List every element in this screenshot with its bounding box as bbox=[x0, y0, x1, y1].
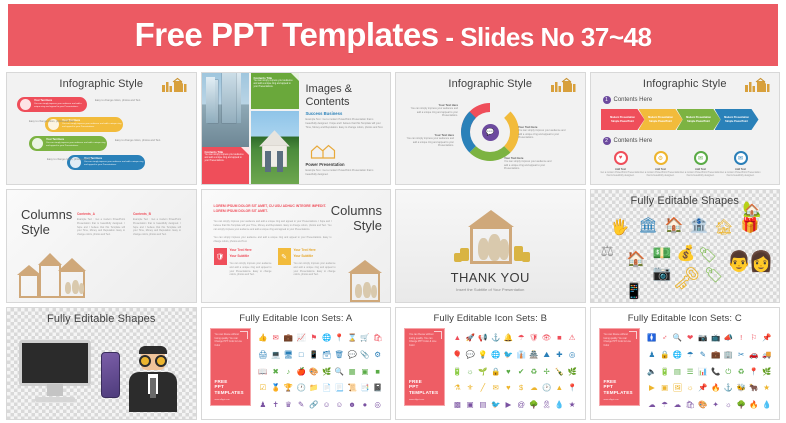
eco-house-icon[interactable]: 🏡 bbox=[743, 202, 762, 217]
palette-icon[interactable]: 🎨 bbox=[309, 368, 318, 376]
exclamation-icon[interactable]: ! bbox=[740, 334, 742, 342]
bullhorn-icon[interactable]: 📢 bbox=[478, 334, 487, 342]
slide-thumbnail-1[interactable]: Infographic Style Your Text Here You can… bbox=[6, 72, 197, 185]
wooden-house-models-photo bbox=[17, 252, 89, 300]
eye-icon[interactable]: 👁 bbox=[542, 334, 552, 342]
cycle-caption-1: Your Text Here You can simply impress yo… bbox=[410, 103, 458, 118]
wand-icon[interactable]: ╱ bbox=[481, 384, 486, 392]
puzzle-icon[interactable]: ✖ bbox=[272, 368, 278, 376]
trophy-icon[interactable]: 🏆 bbox=[284, 384, 293, 392]
person-icon[interactable]: ♟ bbox=[649, 351, 656, 359]
family-house-icon[interactable]: 🏠 bbox=[665, 218, 684, 233]
star-icon[interactable]: ★ bbox=[763, 384, 770, 392]
slide-12-title: Fully Editable Icon Sets: C bbox=[591, 313, 780, 324]
green-content-tag[interactable]: Contents Title You can simply impress yo… bbox=[251, 73, 299, 109]
icon-column-1-body: You can simply impress your audience and… bbox=[230, 262, 272, 277]
pin-icon[interactable]: 📍 bbox=[749, 368, 758, 376]
facebook-icon[interactable]: ▤ bbox=[479, 401, 486, 409]
bottle-icon[interactable]: 🍾 bbox=[555, 368, 564, 376]
chevron-4[interactable]: Modern Presentation Simple PowerPoint bbox=[715, 109, 759, 130]
wifi-icon[interactable]: ☰ bbox=[687, 368, 694, 376]
number-badge-icon: 2 bbox=[603, 137, 611, 145]
cloud-icon[interactable]: ☁ bbox=[530, 384, 538, 392]
star-icon[interactable]: ★ bbox=[569, 401, 576, 409]
corner-fold-icon bbox=[629, 331, 637, 339]
header-banner: Free PPT Templates - Slides No 37~48 bbox=[8, 4, 778, 66]
clock-icon[interactable]: 🕐 bbox=[296, 384, 305, 392]
slide-thumbnail-7[interactable]: THANK YOU Insert the Subtitle of Your Pr… bbox=[395, 189, 586, 302]
slide-6-title: Columns Style bbox=[331, 204, 382, 234]
ring-icon[interactable]: ◎ bbox=[374, 401, 381, 409]
male-icon[interactable]: ♂ bbox=[662, 334, 668, 342]
chat-icon[interactable]: 💬 bbox=[347, 351, 356, 359]
flask-icon[interactable]: ⚗ bbox=[454, 384, 461, 392]
mountain-icon[interactable]: ⛰ bbox=[543, 351, 549, 359]
tree-icon[interactable]: 🌳 bbox=[529, 401, 538, 409]
success-business-heading: Success Business bbox=[306, 111, 343, 116]
slide-5-title: Columns Style bbox=[21, 208, 72, 238]
emoji-icon[interactable]: ☺ bbox=[336, 401, 344, 409]
tree-icon[interactable]: 🌳 bbox=[736, 401, 745, 409]
page-icon[interactable]: 📜 bbox=[347, 384, 356, 392]
chevron-3[interactable]: Modern Presentation Simple PowerPoint bbox=[677, 109, 721, 130]
round-item-3-body: Get a modern PowerPoint Presentation tha… bbox=[681, 172, 721, 177]
stand-icon[interactable]: ✝ bbox=[272, 401, 278, 409]
bell-icon[interactable]: 🔔 bbox=[504, 334, 513, 342]
chart-icon bbox=[32, 138, 43, 149]
plus-icon[interactable]: ✚ bbox=[556, 351, 562, 359]
recycle-icon[interactable]: ♻ bbox=[531, 368, 538, 376]
magnifier-icon[interactable]: 🔍 bbox=[673, 334, 682, 342]
star-icon[interactable]: ✦ bbox=[712, 401, 718, 409]
clip-icon[interactable]: 📎 bbox=[360, 351, 369, 359]
card-url: www.allppt.com bbox=[409, 399, 424, 401]
tablet-icon[interactable]: □ bbox=[299, 351, 304, 359]
flame-icon[interactable]: 🔥 bbox=[749, 401, 758, 409]
camera-icon[interactable]: 📷 bbox=[653, 266, 672, 281]
round-item-4-caption: Add Text Get a modern PowerPoint Present… bbox=[720, 168, 762, 178]
card-brand-line3: TEMPLATES bbox=[604, 390, 633, 396]
card-brand: FREE PPT TEMPLATES bbox=[215, 379, 244, 396]
bag-icon[interactable]: 🛍 bbox=[685, 401, 695, 409]
restroom-icon[interactable]: 🚺 bbox=[647, 334, 656, 342]
globe-icon[interactable]: 🌐 bbox=[322, 334, 331, 342]
chevron-1[interactable]: Modern Presentation Simple PowerPoint bbox=[601, 109, 645, 130]
icon-column-2-body: You can simply impress your audience and… bbox=[294, 262, 336, 277]
bull-icon[interactable]: 🐂 bbox=[749, 384, 758, 392]
contents-here-row-2: 2 Contents Here bbox=[603, 137, 653, 145]
icon-grid: 👍 ✉ 💼 📈 ⚑ 🌐 📍 ⌛ 🛒 🛍 🖨 💻 🖥 □ 📱 🗃 bbox=[257, 330, 385, 413]
globe-icon[interactable]: 🌐 bbox=[673, 351, 682, 359]
cycle-caption-3-body: You can simply impress your audience and… bbox=[504, 160, 551, 170]
bulb-icon[interactable]: 💡 bbox=[478, 351, 487, 359]
contents-here-label-2: Contents Here bbox=[614, 138, 653, 144]
contents-here-label-1: Contents Here bbox=[614, 97, 653, 103]
card-brand: FREE PPT TEMPLATES bbox=[409, 379, 438, 396]
scissors-icon[interactable]: ✂ bbox=[738, 351, 744, 359]
plant-icon[interactable]: 🌱 bbox=[478, 368, 487, 376]
trash-icon[interactable]: 🗑 bbox=[335, 351, 345, 359]
at-icon[interactable]: @ bbox=[517, 401, 525, 409]
book-icon[interactable]: 📓 bbox=[373, 384, 382, 392]
slide-thumbnail-10[interactable]: Fully Editable Icon Sets: A You can Reus… bbox=[201, 307, 392, 420]
flag-icon[interactable]: ⚑ bbox=[311, 334, 318, 342]
laptop-icon[interactable]: 💻 bbox=[271, 351, 280, 359]
slide-2-title-text: Images & Contents bbox=[306, 83, 352, 108]
pin-icon[interactable]: 📌 bbox=[762, 334, 771, 342]
corner-fold-icon bbox=[240, 331, 248, 339]
free-ppt-templates-card[interactable]: You can Reuse without losing quality. Yo… bbox=[404, 328, 445, 406]
circle-icon[interactable]: ● bbox=[363, 401, 368, 409]
smartphone-icon[interactable] bbox=[101, 352, 120, 398]
target-icon[interactable]: ◎ bbox=[569, 351, 576, 359]
number-badge-icon: 1 bbox=[603, 96, 611, 104]
slide-thumbnail-8[interactable]: Fully Editable Shapes 🖐 🏛 🏠 🏦 🏚 🎁 🏡 ⚖ 🏠 … bbox=[590, 189, 781, 302]
gear-icon[interactable]: ⚙ bbox=[374, 351, 381, 359]
slide-6-title-line2: Style bbox=[331, 219, 382, 234]
slide-catalog-page: Free PPT Templates - Slides No 37~48 Inf… bbox=[0, 0, 786, 423]
truck-icon[interactable]: 🚚 bbox=[762, 351, 771, 359]
column-1-body: Example Text : Get a modern PowerPoint P… bbox=[77, 218, 125, 237]
corner-fold-icon bbox=[241, 147, 249, 155]
lock-icon[interactable]: 🔒 bbox=[660, 351, 669, 359]
anchor-icon[interactable]: ⚓ bbox=[724, 384, 733, 392]
slide-11-title: Fully Editable Icon Sets: B bbox=[396, 313, 585, 324]
slide-thumbnail-6[interactable]: LOREM IPSUM DOLOR SIT AMET, CU USU ADHUC… bbox=[201, 189, 392, 302]
book-icon[interactable]: 📖 bbox=[258, 368, 267, 376]
gear-icon[interactable]: ⚙ bbox=[654, 151, 668, 165]
leaf-icon[interactable]: 🌿 bbox=[322, 368, 331, 376]
tower-icon[interactable]: 🏯 bbox=[529, 351, 538, 359]
pin-icon[interactable]: 📍 bbox=[567, 384, 576, 392]
round-item-2-body: Get a modern PowerPoint Presentation tha… bbox=[641, 172, 681, 177]
grid-icon[interactable]: ▦ bbox=[349, 368, 356, 376]
bar-2-body: You can simply impress your audience and… bbox=[62, 123, 123, 128]
drop-icon[interactable]: 💧 bbox=[555, 401, 564, 409]
drop-icon[interactable]: 💧 bbox=[762, 401, 771, 409]
rocket-icon[interactable]: 🚀 bbox=[465, 334, 474, 342]
contents-here-row-1: 1 Contents Here bbox=[603, 96, 653, 104]
note-icon[interactable]: 📑 bbox=[360, 384, 369, 392]
city-skyline-photo bbox=[202, 73, 249, 147]
file-icon[interactable]: 📄 bbox=[322, 384, 331, 392]
phone-icon[interactable]: 📱 bbox=[309, 351, 318, 359]
infographic-bar-1[interactable]: Your Text Here You can simply impress yo… bbox=[17, 97, 87, 112]
cycle-caption-4: Your Text Here You can simply impress yo… bbox=[406, 133, 454, 148]
fire-icon[interactable]: 🔥 bbox=[711, 384, 720, 392]
stethoscope-icon[interactable]: ⚜ bbox=[467, 384, 474, 392]
pencil-icon[interactable]: ✎ bbox=[278, 248, 291, 265]
slide-10-title: Fully Editable Icon Sets: A bbox=[202, 313, 391, 324]
medal-icon[interactable]: 🏅 bbox=[271, 384, 280, 392]
bee-icon[interactable]: 🐝 bbox=[736, 384, 745, 392]
hand-holding-icon[interactable]: 🖐 bbox=[611, 220, 630, 235]
house-skyline-icon bbox=[743, 77, 771, 93]
man-with-binoculars-icon[interactable] bbox=[125, 348, 181, 414]
imac-monitor-icon[interactable] bbox=[19, 340, 91, 402]
video-icon[interactable]: ▣ bbox=[661, 384, 668, 392]
icon-column-2-subheading: Your Subtitle bbox=[294, 254, 314, 258]
sun-icon[interactable]: ☼ bbox=[725, 401, 732, 409]
shield-icon[interactable]: 🛡 bbox=[529, 334, 539, 342]
card-brand-line3: TEMPLATES bbox=[409, 390, 438, 396]
round-item-1-body: Get a modern PowerPoint Presentation tha… bbox=[601, 172, 641, 177]
cloud-icon[interactable]: ☁ bbox=[674, 401, 682, 409]
image-icon[interactable]: 🖼 bbox=[673, 384, 683, 392]
person-icon[interactable]: ♟ bbox=[260, 401, 267, 409]
key-icon[interactable]: 🗝 bbox=[673, 268, 701, 290]
paint-icon[interactable]: 🎨 bbox=[698, 401, 707, 409]
slide-thumbnail-12[interactable]: Fully Editable Icon Sets: C You can Reus… bbox=[590, 307, 781, 420]
power-icon[interactable]: ⏻ bbox=[725, 368, 731, 376]
slide-5-title-line1: Columns bbox=[21, 208, 72, 223]
column-2-body: Example Text : Get a modern PowerPoint P… bbox=[133, 218, 181, 237]
clock-icon[interactable]: 🕑 bbox=[542, 384, 551, 392]
corner-fold-icon bbox=[291, 73, 299, 81]
globe-icon[interactable]: 🌐 bbox=[491, 351, 500, 359]
server-icon[interactable]: 🗃 bbox=[322, 351, 332, 359]
success-business-body: Example Text : Get a modern PowerPoint P… bbox=[306, 118, 384, 129]
window-icon[interactable]: ▣ bbox=[361, 368, 368, 376]
video-icon[interactable]: ▶ bbox=[505, 401, 511, 409]
instagram-icon[interactable]: ▣ bbox=[467, 401, 474, 409]
cloud-icon[interactable]: ☁ bbox=[648, 401, 656, 409]
money-bags-in-wooden-house-photo bbox=[448, 204, 532, 266]
slide-thumbnail-grid: Infographic Style Your Text Here You can… bbox=[6, 72, 780, 420]
slide-thumbnail-4[interactable]: Infographic Style 1 Contents Here Modern… bbox=[590, 72, 781, 185]
search-icon[interactable]: 🔍 bbox=[335, 368, 344, 376]
infographic-bar-3[interactable]: Your Text Here You can simply impress yo… bbox=[29, 136, 107, 151]
icon-grid: 🚺 ♂ 🔍 ❤ 📷 📺 📣 ! ⚐ 📌 ♟ 🔒 🌐 ☂ ✎ 💼 bbox=[646, 330, 774, 413]
round-item-3-caption: Add Text Get a modern PowerPoint Present… bbox=[680, 168, 722, 178]
heart-icon[interactable]: ♥ bbox=[506, 384, 510, 392]
bag-icon[interactable]: 💼 bbox=[711, 351, 720, 359]
chat-icon[interactable]: ✉ bbox=[734, 151, 748, 165]
round-item-1-caption: Add Text Get a modern PowerPoint Present… bbox=[600, 168, 642, 178]
megaphone-icon[interactable]: 📣 bbox=[724, 334, 733, 342]
pin-icon[interactable]: 📍 bbox=[335, 334, 344, 342]
printer-icon[interactable]: 🖨 bbox=[258, 351, 268, 359]
phone-handshake-icon[interactable]: 📱 bbox=[625, 284, 644, 299]
tie-icon[interactable]: 👔 bbox=[516, 351, 525, 359]
thank-you-subtitle: Insert the Subtitle of Your Presentation bbox=[396, 287, 585, 292]
free-ppt-templates-card[interactable]: You can Reuse without losing quality. Yo… bbox=[210, 328, 251, 406]
power-presentation-body: Example Text : Get a modern PowerPoint P… bbox=[306, 169, 384, 177]
cycle-caption-2: Your Text Here You can simply impress yo… bbox=[518, 125, 566, 140]
speech-icon[interactable]: 💬 bbox=[465, 351, 474, 359]
pen-icon[interactable]: ✎ bbox=[298, 401, 304, 409]
folder-icon[interactable]: 📁 bbox=[309, 384, 318, 392]
flag-icon[interactable]: ⚐ bbox=[751, 334, 758, 342]
play-icon[interactable]: ▶ bbox=[649, 384, 655, 392]
round-item-2-caption: Add Text Get a modern PowerPoint Present… bbox=[640, 168, 682, 178]
link-icon[interactable]: 🔗 bbox=[309, 401, 318, 409]
bar-1-body: You can simply impress your audience and… bbox=[34, 103, 87, 108]
target-icon bbox=[20, 99, 31, 110]
camera-icon[interactable]: 📷 bbox=[698, 334, 707, 342]
document-icon[interactable]: 📃 bbox=[335, 384, 344, 392]
slide-1-caption-1: Easy to change colors, photos and Text. bbox=[95, 99, 141, 103]
gift-house-icon[interactable]: 🎁 bbox=[741, 218, 760, 233]
thumbs-up-icon[interactable]: 👍 bbox=[258, 334, 267, 342]
square-icon[interactable]: ■ bbox=[375, 368, 380, 376]
slide-1-caption-3: Easy to change colors, photos and Text. bbox=[115, 139, 161, 143]
chevron-2[interactable]: Modern Presentation Simple PowerPoint bbox=[639, 109, 683, 130]
bag-icon[interactable]: 🛍 bbox=[373, 334, 383, 342]
banner-sub-text: - Slides No 37~48 bbox=[439, 22, 652, 52]
sun-icon[interactable]: ☼ bbox=[687, 384, 694, 392]
slide-1-caption-4: Easy to change colors, photos and Text. bbox=[47, 158, 93, 162]
free-ppt-templates-card[interactable]: You can Reuse without losing quality. Yo… bbox=[599, 328, 640, 406]
slide-2-title: Images & Contents bbox=[306, 83, 391, 108]
slide-1-caption-2: Easy to change colors, photos and Text. bbox=[29, 120, 75, 124]
signal-icon[interactable]: ▤ bbox=[674, 368, 681, 376]
intro-paragraph-1: You can simply impress your audience and… bbox=[214, 220, 332, 231]
bar-3-body: You can simply impress your audience and… bbox=[46, 142, 107, 147]
envelope-icon[interactable]: ✉ bbox=[492, 384, 498, 392]
card-brand-line3: TEMPLATES bbox=[215, 390, 244, 396]
house-outline-icon[interactable]: 🏚 bbox=[715, 220, 734, 235]
heart-icon[interactable]: ♥ bbox=[506, 368, 510, 376]
slide-thumbnail-2[interactable]: Contents Title You can simply impress yo… bbox=[201, 72, 392, 185]
money-house-icon[interactable]: 🏦 bbox=[690, 218, 709, 233]
wooden-house-models-photo bbox=[340, 260, 388, 302]
price-tag-icon[interactable]: 🏷 bbox=[705, 268, 724, 283]
card-url: www.allppt.com bbox=[215, 399, 230, 401]
shield-icon[interactable]: 🛡 bbox=[214, 248, 227, 265]
money-bag-icon[interactable]: 💰 bbox=[677, 246, 696, 261]
bird-icon[interactable]: 🐦 bbox=[504, 351, 513, 359]
icon-column-1-subheading: Your Subtitle bbox=[230, 254, 250, 258]
mail-icon[interactable]: ✉ bbox=[694, 151, 708, 165]
chevron-3-line2: Simple PowerPoint bbox=[687, 120, 710, 124]
recycle-icon[interactable]: ♻ bbox=[738, 368, 745, 376]
banner-main-text: Free PPT Templates bbox=[135, 16, 439, 53]
compass-icon[interactable]: ▲ bbox=[454, 334, 461, 342]
heart-icon[interactable]: ❤ bbox=[687, 334, 693, 342]
cloud-rain-icon[interactable]: ☂ bbox=[661, 401, 668, 409]
briefcase-icon[interactable]: 💼 bbox=[284, 334, 293, 342]
linkedin-icon[interactable]: ▩ bbox=[454, 401, 461, 409]
house-skyline-icon bbox=[160, 77, 188, 93]
heart-icon[interactable]: ♥ bbox=[614, 151, 628, 165]
checkbox-icon[interactable]: ☑ bbox=[260, 384, 267, 392]
sun-icon[interactable]: ☼ bbox=[467, 368, 474, 376]
slide-thumbnail-11[interactable]: Fully Editable Icon Sets: B You can Reus… bbox=[395, 307, 586, 420]
twitter-icon[interactable]: 🐦 bbox=[491, 401, 500, 409]
card-brand: FREE PPT TEMPLATES bbox=[604, 379, 633, 396]
slide-thumbnail-3[interactable]: Infographic Style 💬 Your Text Here You c… bbox=[395, 72, 586, 185]
cone-icon[interactable]: ▲ bbox=[556, 384, 563, 392]
call-icon[interactable]: 📞 bbox=[711, 368, 720, 376]
umbrella-icon[interactable]: ☂ bbox=[518, 334, 525, 342]
column-2-heading: Contents_B bbox=[133, 212, 151, 216]
businesswoman-icon[interactable]: 👩 bbox=[749, 252, 774, 272]
house-outline-icon bbox=[310, 143, 336, 159]
slide-9-title: Fully Editable Shapes bbox=[7, 313, 196, 325]
intro-paragraph-2: You can simply impress your audience and… bbox=[214, 236, 332, 243]
card-url: www.allppt.com bbox=[604, 399, 619, 401]
chevron-1-line2: Simple PowerPoint bbox=[611, 120, 634, 124]
house-skyline-icon bbox=[549, 77, 577, 93]
chevron-2-line2: Simple PowerPoint bbox=[649, 120, 672, 124]
cycle-caption-2-body: You can simply impress your audience and… bbox=[518, 129, 565, 139]
music-icon[interactable]: ♪ bbox=[287, 368, 291, 376]
hourglass-icon[interactable]: ⌛ bbox=[347, 334, 356, 342]
icon-column-2-heading: Your Text Here bbox=[294, 248, 316, 252]
house-keyring-icon[interactable]: 🏷 bbox=[699, 248, 718, 263]
building-icon[interactable]: 🏢 bbox=[724, 351, 733, 359]
balance-scale-icon[interactable]: ⚖ bbox=[601, 244, 614, 259]
thank-you-title: THANK YOU bbox=[396, 270, 585, 285]
bar-chart-icon[interactable]: 📈 bbox=[296, 334, 305, 342]
mail-icon[interactable]: ✉ bbox=[272, 334, 278, 342]
red-content-tag[interactable]: Contents Title You can simply impress yo… bbox=[202, 147, 249, 185]
chart-icon[interactable]: 📊 bbox=[698, 368, 707, 376]
monitor-icon[interactable]: 🖥 bbox=[284, 351, 294, 359]
pen-icon[interactable]: ✎ bbox=[700, 351, 706, 359]
slide-thumbnail-9[interactable]: Fully Editable Shapes bbox=[6, 307, 197, 420]
cycle-diagram[interactable]: 💬 bbox=[461, 103, 519, 161]
slide-5-title-line2: Style bbox=[21, 223, 72, 238]
leaf-icon[interactable]: 🌿 bbox=[762, 368, 771, 376]
round-item-4-body: Get a modern PowerPoint Presentation tha… bbox=[721, 172, 761, 177]
apple-icon[interactable]: 🍎 bbox=[296, 368, 305, 376]
bank-icon[interactable]: 🏛 bbox=[639, 218, 658, 233]
check-icon[interactable]: ✔ bbox=[518, 368, 524, 376]
smiley-icon[interactable]: ☺ bbox=[323, 401, 331, 409]
alert-icon[interactable]: ⚠ bbox=[569, 334, 576, 342]
umbrella-icon[interactable]: ☂ bbox=[687, 351, 694, 359]
dollar-icon[interactable]: $ bbox=[519, 384, 523, 392]
share-icon[interactable]: ✢ bbox=[543, 368, 549, 376]
slide-6-title-line1: Columns bbox=[331, 204, 382, 219]
icon-grid: ▲ 🚀 📢 ⚓ 🔔 ☂ 🛡 👁 ■ ⚠ 🎈 💬 💡 🌐 🐦 👔 bbox=[451, 330, 579, 413]
red-tag-body: You can simply impress your audience and… bbox=[205, 154, 246, 164]
cycle-caption-4-body: You can simply impress your audience and… bbox=[407, 137, 454, 147]
ribbon-icon[interactable]: 🎗 bbox=[542, 401, 552, 409]
chess-icon[interactable]: ♛ bbox=[285, 401, 292, 409]
cycle-caption-3: Your Text Here You can simply impress yo… bbox=[504, 156, 552, 171]
power-presentation-heading: Power Presentation bbox=[306, 162, 345, 167]
face-icon[interactable]: ☻ bbox=[348, 401, 356, 409]
leaf-icon[interactable]: 🌿 bbox=[567, 368, 576, 376]
corner-fold-icon bbox=[434, 331, 442, 339]
lorem-heading: LOREM IPSUM DOLOR SIT AMET, CU USU ADHUC… bbox=[214, 204, 334, 214]
column-1-heading: Contents_A bbox=[77, 212, 95, 216]
green-tag-body: You can simply impress your audience and… bbox=[254, 80, 296, 90]
cart-icon[interactable]: 🛒 bbox=[360, 334, 369, 342]
car-icon[interactable]: 🚗 bbox=[749, 351, 758, 359]
banner-title: Free PPT Templates - Slides No 37~48 bbox=[135, 16, 652, 54]
lock-icon[interactable]: 🔒 bbox=[491, 368, 500, 376]
bar-4-body: You can simply impress your audience and… bbox=[84, 161, 145, 166]
battery-icon[interactable]: 🔋 bbox=[660, 368, 669, 376]
stop-icon[interactable]: ■ bbox=[557, 334, 562, 342]
pin-icon[interactable]: 📌 bbox=[698, 384, 707, 392]
suburban-house-photo bbox=[251, 111, 299, 185]
house-scale-icon[interactable]: 🏠 bbox=[627, 252, 646, 267]
battery-icon[interactable]: 🔋 bbox=[453, 368, 462, 376]
cash-icon[interactable]: 💵 bbox=[653, 246, 672, 261]
projector-icon[interactable]: 📺 bbox=[711, 334, 720, 342]
anchor-icon[interactable]: ⚓ bbox=[491, 334, 500, 342]
slide-thumbnail-5[interactable]: Columns Style Contents_A Example Text : … bbox=[6, 189, 197, 302]
chevron-4-line2: Simple PowerPoint bbox=[725, 120, 748, 124]
chat-bubbles-icon: 💬 bbox=[482, 124, 499, 141]
balloon-icon[interactable]: 🎈 bbox=[453, 351, 462, 359]
speaker-icon[interactable]: 🔈 bbox=[647, 368, 656, 376]
